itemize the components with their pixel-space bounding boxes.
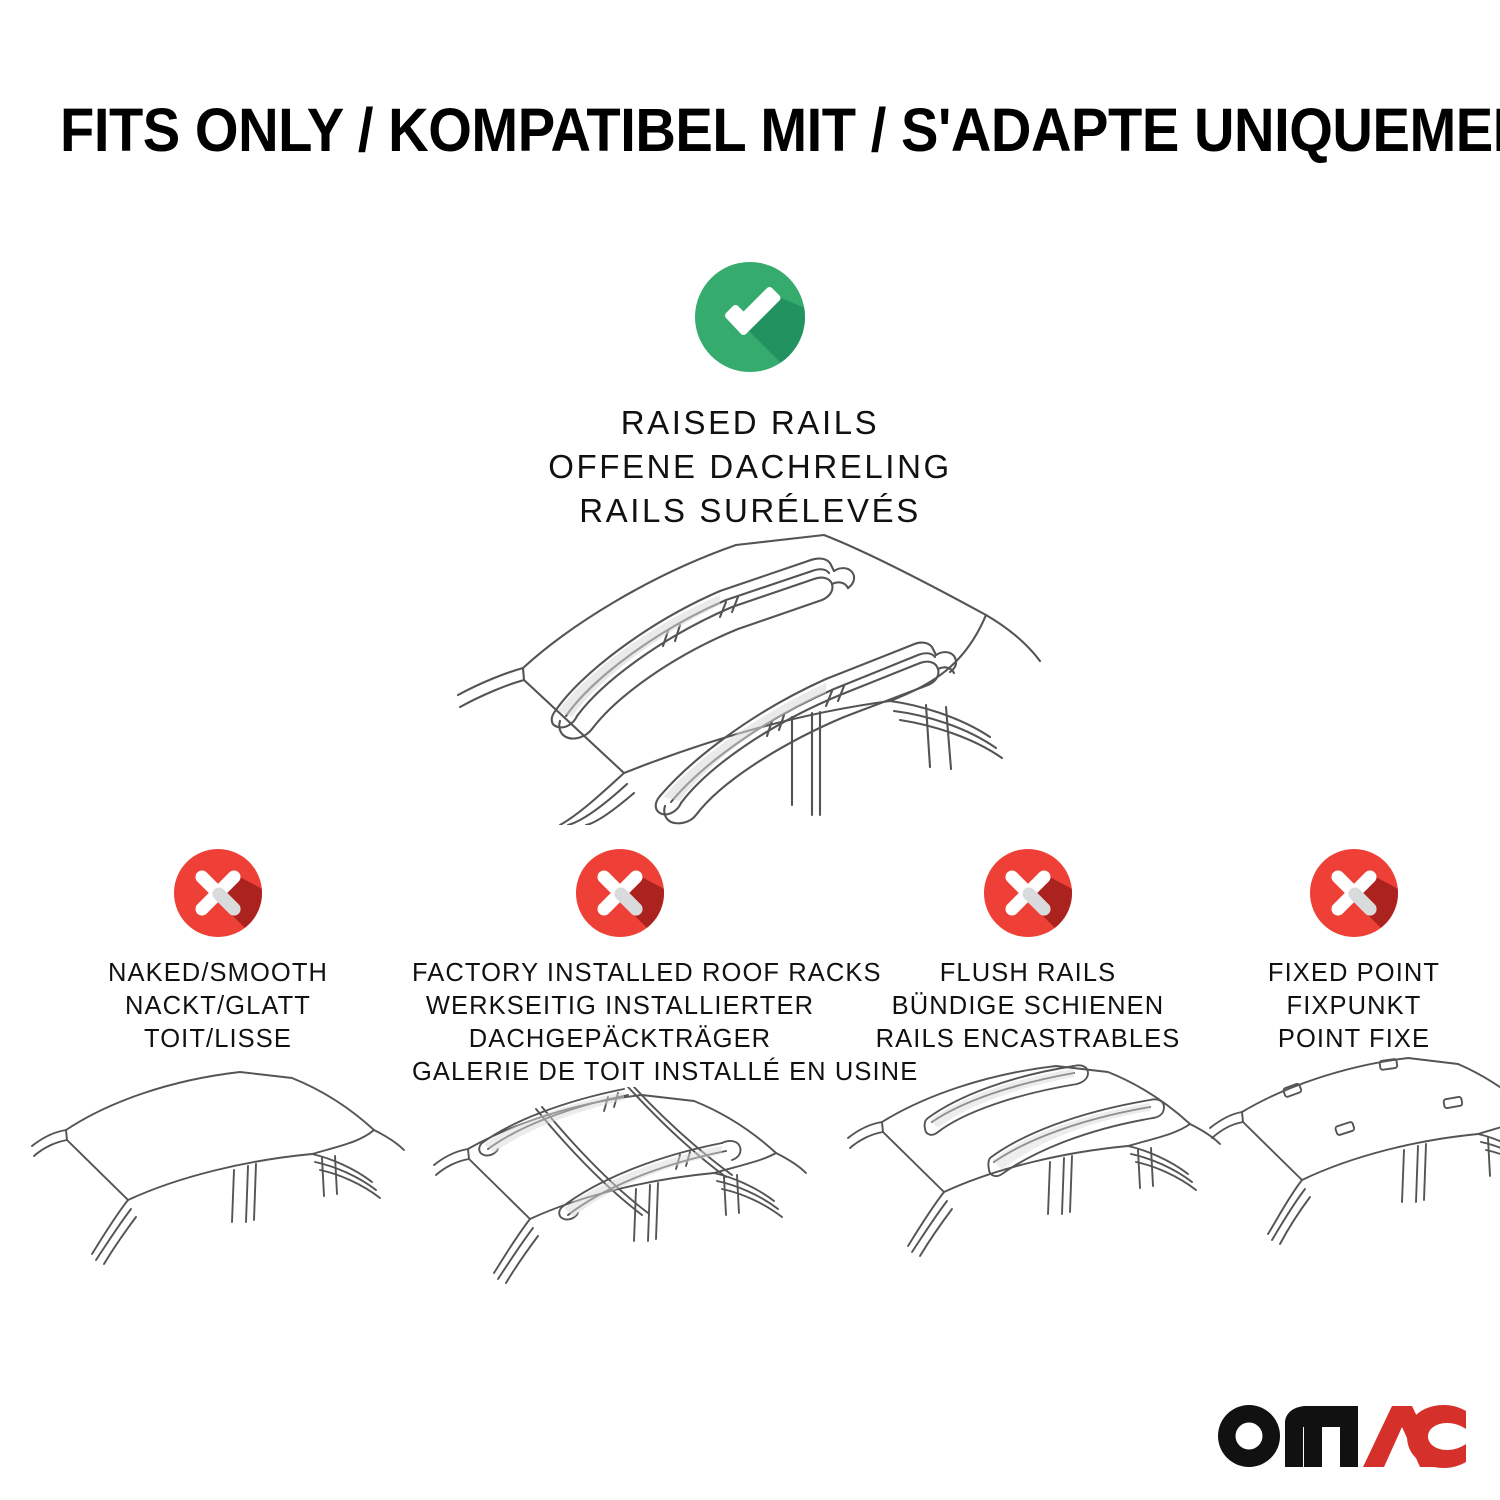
x-circle-icon <box>1306 845 1402 941</box>
incompatible-caption-line: NAKED/SMOOTH <box>30 957 406 990</box>
incompatible-caption: FLUSH RAILS BÜNDIGE SCHIENEN RAILS ENCAS… <box>846 957 1210 1056</box>
compatible-caption-line: OFFENE DACHRELING <box>0 445 1500 489</box>
incompatible-caption-line: FIXPUNKT <box>1208 990 1500 1023</box>
incompatible-item-fixed-point: FIXED POINT FIXPUNKT POINT FIXE <box>1208 845 1500 1056</box>
incompatible-item-flush-rails: FLUSH RAILS BÜNDIGE SCHIENEN RAILS ENCAS… <box>846 845 1210 1056</box>
incompatible-item-naked-smooth: NAKED/SMOOTH NACKT/GLATT TOIT/LISSE <box>30 845 406 1056</box>
incompatible-caption-line: GALERIE DE TOIT INSTALLÉ EN USINE <box>412 1056 828 1089</box>
car-roof-fixed-point-illustration <box>1208 1050 1500 1280</box>
car-roof-factory-roof-racks-illustration <box>432 1087 808 1317</box>
car-roof-raised-rails-illustration <box>420 505 1080 825</box>
incompatible-caption-line: WERKSEITIG INSTALLIERTER <box>412 990 828 1023</box>
compatible-block: RAISED RAILS OFFENE DACHRELING RAILS SUR… <box>0 255 1500 534</box>
incompatible-caption-line: DACHGEPÄCKTRÄGER <box>412 1023 828 1056</box>
car-roof-flush-rails-illustration <box>846 1050 1222 1280</box>
x-circle-icon <box>572 845 668 941</box>
incompatible-item-factory-roof-racks: FACTORY INSTALLED ROOF RACKS WERKSEITIG … <box>412 845 828 1090</box>
logo-letter-o <box>1218 1405 1280 1467</box>
incompatible-caption-line: FACTORY INSTALLED ROOF RACKS <box>412 957 828 990</box>
incompatible-caption-line: BÜNDIGE SCHIENEN <box>846 990 1210 1023</box>
x-circle-icon <box>980 845 1076 941</box>
car-roof-naked-smooth-illustration <box>30 1050 406 1280</box>
logo-letter-m <box>1285 1406 1358 1467</box>
incompatible-caption: NAKED/SMOOTH NACKT/GLATT TOIT/LISSE <box>30 957 406 1056</box>
incompatible-caption-line: FLUSH RAILS <box>846 957 1210 990</box>
incompatible-caption: FIXED POINT FIXPUNKT POINT FIXE <box>1208 957 1500 1056</box>
check-circle-icon <box>688 255 812 379</box>
omac-logo <box>1216 1403 1466 1469</box>
page-title: FITS ONLY / KOMPATIBEL MIT / S'ADAPTE UN… <box>60 98 1440 162</box>
fitment-infographic: FITS ONLY / KOMPATIBEL MIT / S'ADAPTE UN… <box>0 0 1500 1500</box>
compatible-caption-line: RAISED RAILS <box>0 401 1500 445</box>
incompatible-caption-line: NACKT/GLATT <box>30 990 406 1023</box>
incompatible-caption-line: FIXED POINT <box>1208 957 1500 990</box>
incompatible-caption: FACTORY INSTALLED ROOF RACKS WERKSEITIG … <box>412 957 828 1090</box>
x-circle-icon <box>170 845 266 941</box>
incompatible-block: NAKED/SMOOTH NACKT/GLATT TOIT/LISSE <box>0 845 1500 1465</box>
